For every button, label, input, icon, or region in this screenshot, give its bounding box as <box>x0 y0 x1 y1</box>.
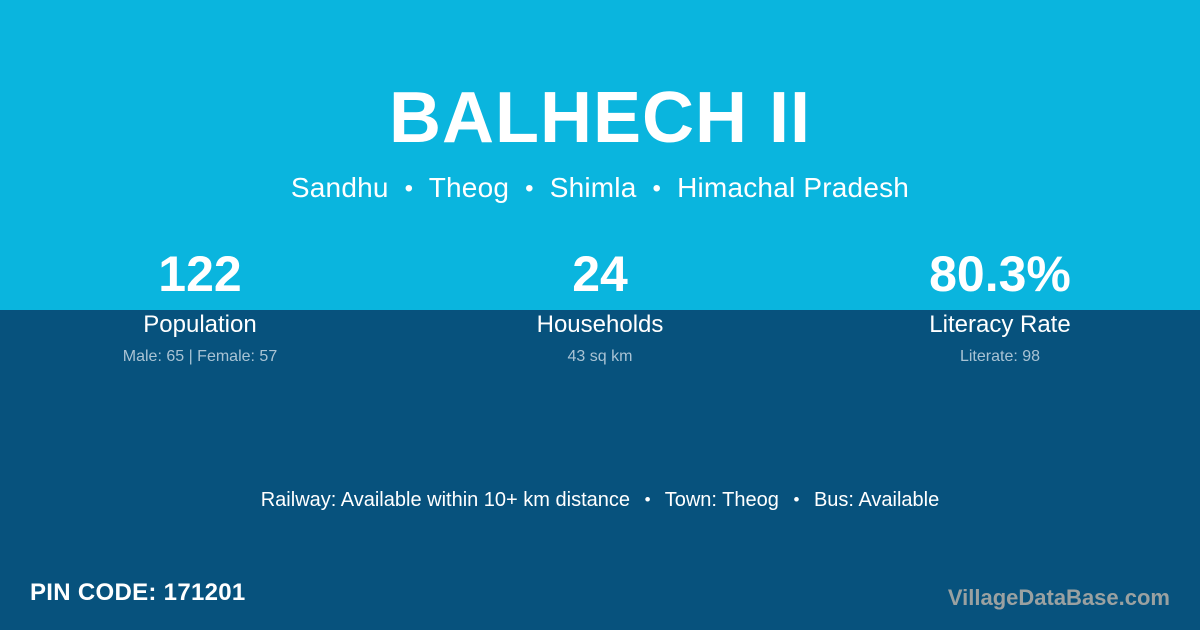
breadcrumb-separator: • <box>645 175 670 202</box>
site-brand: VillageDataBase.com <box>948 584 1170 612</box>
stat-sublabel: 43 sq km <box>400 347 800 367</box>
amenity-town: Town: Theog <box>665 489 779 511</box>
stat-literacy-rate: 80.3% Literacy Rate Literate: 98 <box>800 244 1200 367</box>
stat-value: 24 <box>400 244 800 304</box>
amenity-separator: • <box>636 490 660 509</box>
pin-code: PIN CODE: 171201 <box>30 578 246 608</box>
village-info-card: BALHECH II Sandhu • Theog • Shimla • Him… <box>0 0 1200 630</box>
stat-sublabel: Male: 65 | Female: 57 <box>0 347 400 367</box>
stat-label: Literacy Rate <box>800 310 1200 340</box>
stats-row: 122 Population Male: 65 | Female: 57 24 … <box>0 244 1200 367</box>
stat-value: 122 <box>0 244 400 304</box>
header: BALHECH II Sandhu • Theog • Shimla • Him… <box>0 0 1200 202</box>
stat-label: Households <box>400 310 800 340</box>
page-title: BALHECH II <box>0 0 1200 154</box>
breadcrumb-item-district: Shimla <box>550 172 637 203</box>
stat-sublabel: Literate: 98 <box>800 347 1200 367</box>
stat-population: 122 Population Male: 65 | Female: 57 <box>0 244 400 367</box>
breadcrumb: Sandhu • Theog • Shimla • Himachal Prade… <box>0 154 1200 202</box>
stat-value: 80.3% <box>800 244 1200 304</box>
breadcrumb-separator: • <box>517 175 542 202</box>
breadcrumb-separator: • <box>397 175 422 202</box>
amenity-separator: • <box>784 490 808 509</box>
amenity-bus: Bus: Available <box>814 489 939 511</box>
breadcrumb-item-village: Sandhu <box>291 172 389 203</box>
amenities-line: Railway: Available within 10+ km distanc… <box>0 487 1200 513</box>
breadcrumb-item-tehsil: Theog <box>429 172 509 203</box>
footer: PIN CODE: 171201 VillageDataBase.com <box>0 572 1200 630</box>
stat-households: 24 Households 43 sq km <box>400 244 800 367</box>
breadcrumb-item-state: Himachal Pradesh <box>677 172 909 203</box>
amenity-railway: Railway: Available within 10+ km distanc… <box>261 489 630 511</box>
stat-label: Population <box>0 310 400 340</box>
